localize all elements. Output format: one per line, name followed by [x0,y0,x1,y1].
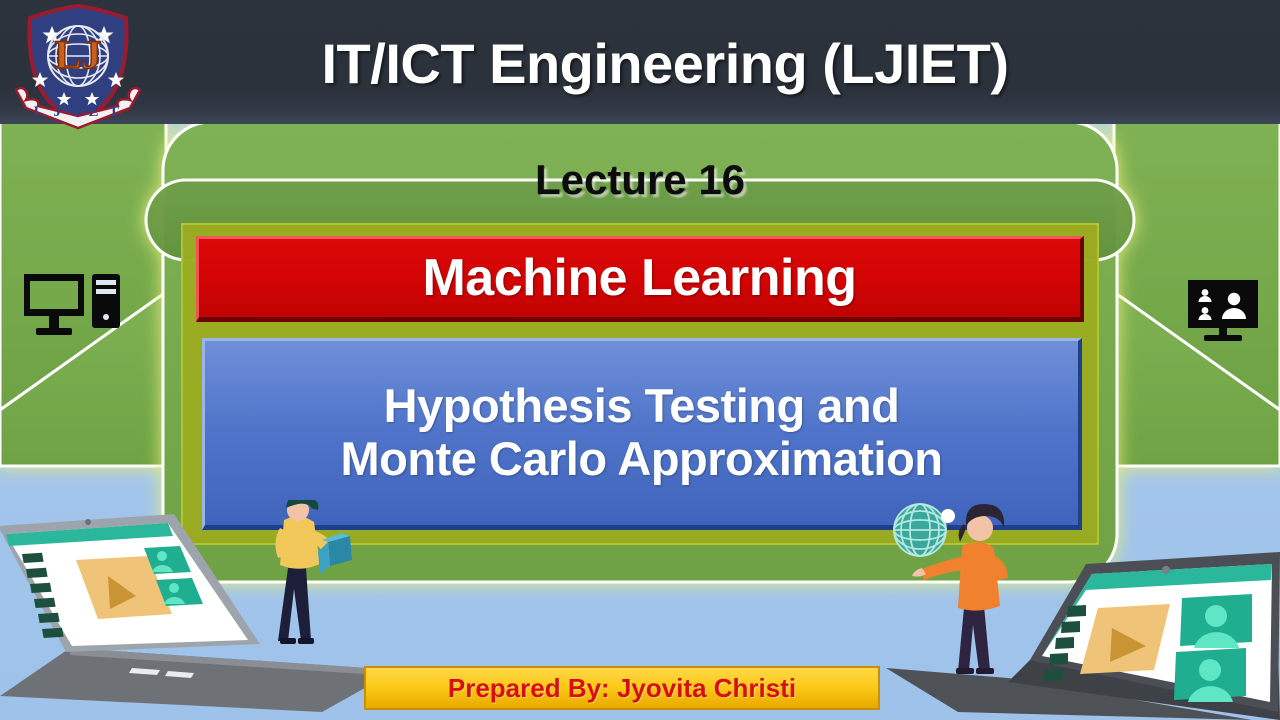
topic-line-1: Hypothesis Testing and [384,380,900,433]
teal-globe [894,504,955,556]
crest-banner-text: L J I E T [34,104,123,120]
svg-text:LJ: LJ [55,32,102,77]
desktop-computer-icon [22,272,122,338]
laptop-with-person-globe-illustration [880,490,1280,720]
laptop-with-person-reading-illustration [0,500,412,720]
lecture-number-label: Lecture 16 [170,152,1110,208]
lj-monogram: LJ [55,32,102,77]
topic-line-2: Monte Carlo Approximation [341,433,943,486]
person-reading-book [275,500,352,644]
video-conference-icon [1186,278,1260,344]
subject-title-box: Machine Learning [196,236,1084,322]
ljiet-crest-logo: LJ L J I E T [8,2,148,132]
prepared-by-banner: Prepared By: Jyovita Christi [364,666,880,710]
page-title: IT/ICT Engineering (LJIET) [160,18,1170,108]
presentation-slide: LJ L J I E T IT/ICT Engineering (LJIET) [0,0,1280,720]
